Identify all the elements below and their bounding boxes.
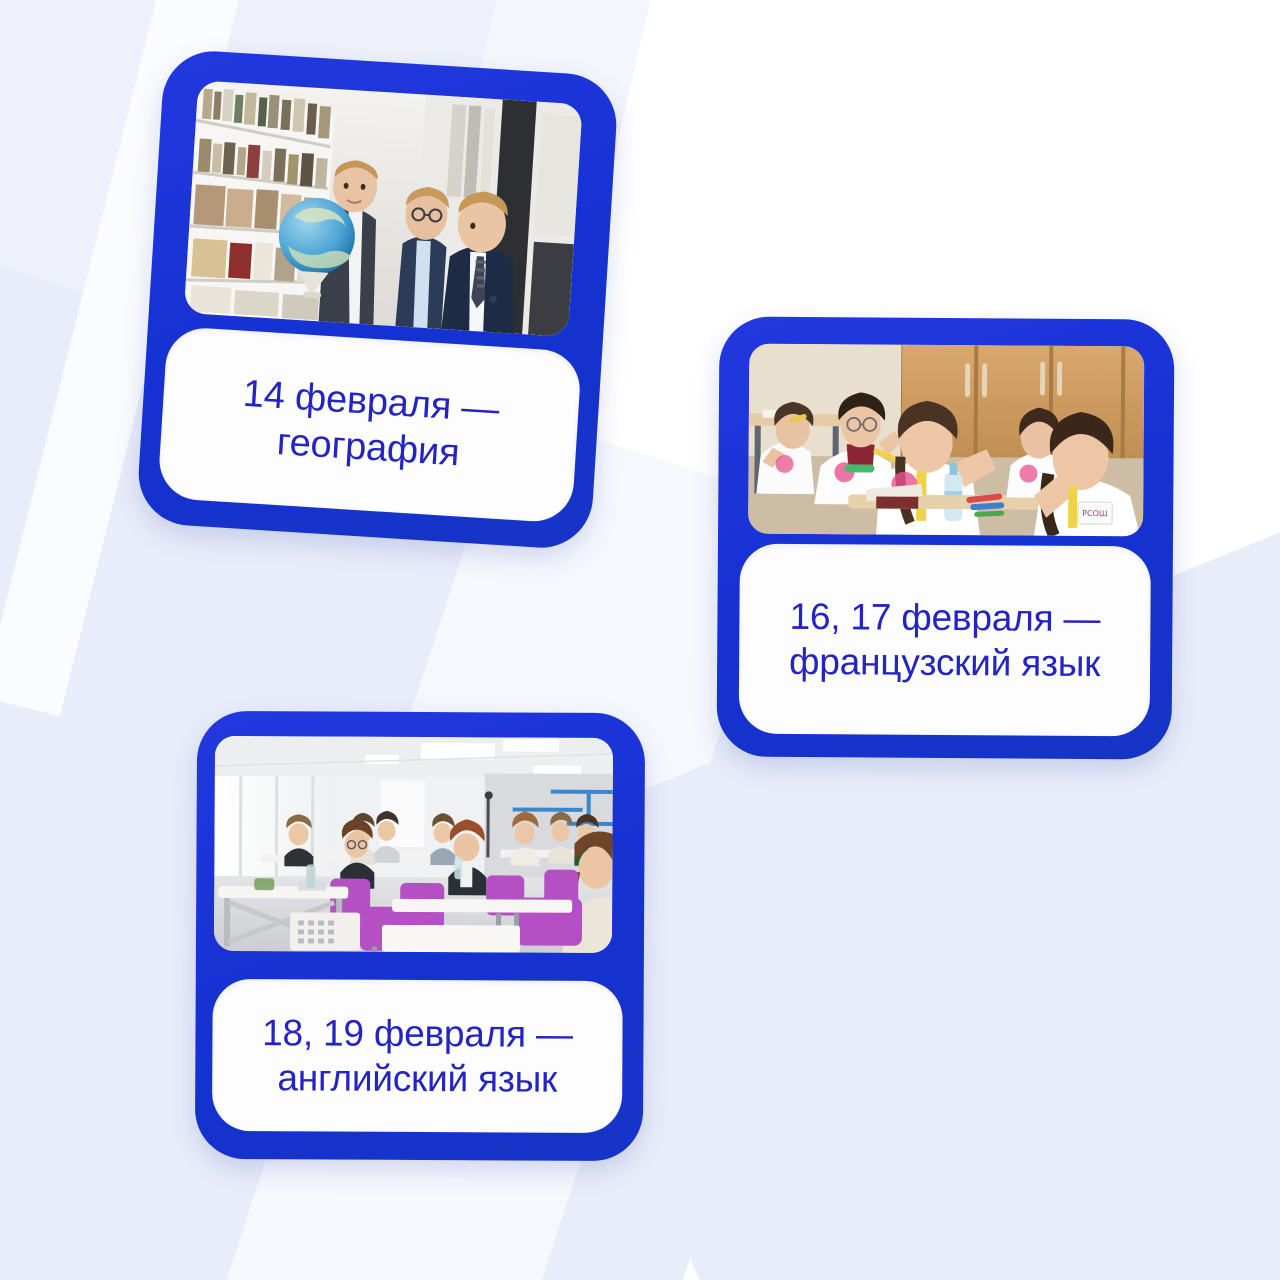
card-label-text: 16, 17 февраля — французский язык — [739, 593, 1151, 686]
poster-canvas: 14 февраля — география — [0, 0, 1280, 1280]
photo-english-illustration — [214, 736, 613, 953]
card-label-text: 18, 19 февраля — английский язык — [212, 1010, 622, 1102]
photo-geography-illustration — [184, 80, 583, 337]
photo-french: РСОШ — [748, 344, 1144, 537]
photo-geography — [184, 80, 583, 337]
svg-text:РСОШ: РСОШ — [1082, 509, 1107, 518]
photo-english — [214, 736, 613, 953]
card-label-english: 18, 19 февраля — английский язык — [212, 979, 623, 1133]
card-label-text: 14 февраля — география — [160, 365, 580, 484]
schedule-card-french[interactable]: РСОШ 16, 17 февраля — французский язык — [716, 316, 1174, 759]
card-label-french: 16, 17 февраля — французский язык — [739, 544, 1151, 737]
schedule-card-geography[interactable]: 14 февраля — география — [136, 48, 620, 551]
schedule-card-english[interactable]: 18, 19 февраля — английский язык — [195, 711, 645, 1161]
photo-french-illustration: РСОШ — [748, 344, 1144, 537]
card-label-geography: 14 февраля — география — [157, 326, 582, 524]
